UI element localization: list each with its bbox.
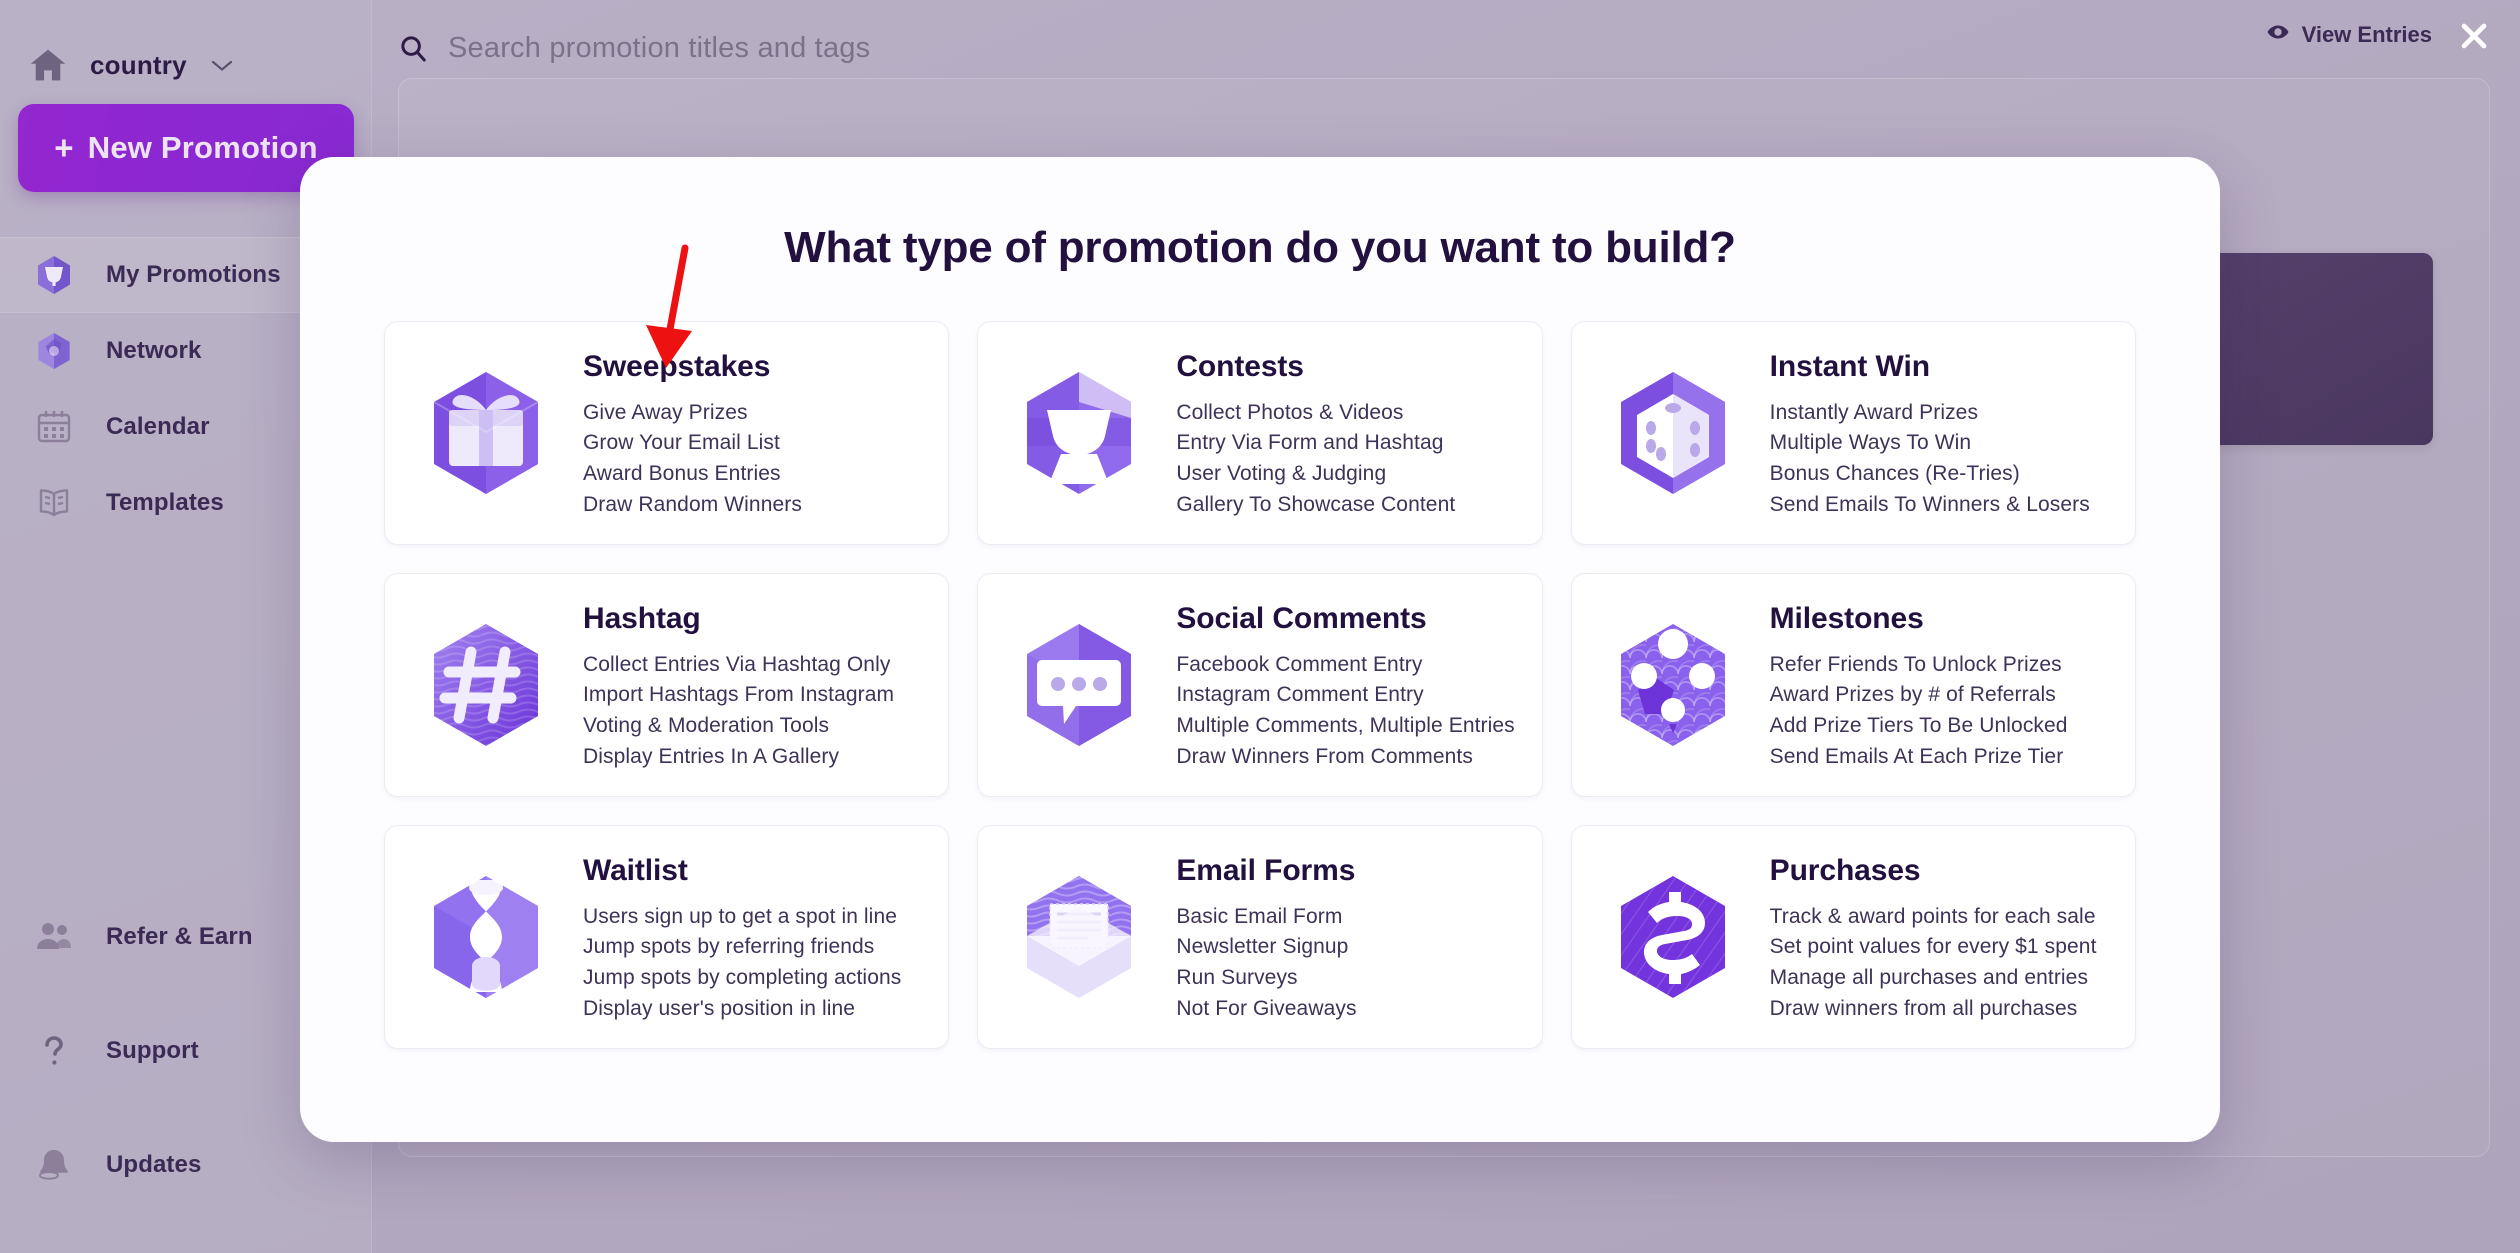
card-feature: Users sign up to get a spot in line (583, 902, 901, 933)
card-feature: Entry Via Form and Hashtag (1176, 428, 1455, 459)
card-feature: Jump spots by referring friends (583, 932, 901, 963)
card-body: Hashtag Collect Entries Via Hashtag Only… (583, 598, 894, 773)
card-feature: Draw Winners From Comments (1176, 742, 1514, 773)
card-feature: Refer Friends To Unlock Prizes (1770, 650, 2068, 681)
card-title: Social Comments (1176, 602, 1514, 636)
promotion-card-email-forms[interactable]: Email Forms Basic Email Form Newsletter … (977, 825, 1542, 1049)
book-icon (32, 481, 76, 525)
card-feature: Newsletter Signup (1176, 932, 1356, 963)
sidebar-item-label: Templates (106, 489, 224, 517)
question-mark-icon (32, 1029, 76, 1073)
card-feature: Not For Giveaways (1176, 994, 1356, 1025)
card-feature: Display user's position in line (583, 994, 901, 1025)
sidebar-item-label: Calendar (106, 413, 210, 441)
card-title: Waitlist (583, 854, 901, 888)
card-feature: Multiple Ways To Win (1770, 428, 2090, 459)
card-feature: Collect Entries Via Hashtag Only (583, 650, 894, 681)
sidebar-item-label: Support (106, 1037, 199, 1065)
card-feature: Facebook Comment Entry (1176, 650, 1514, 681)
sidebar-item-label: Network (106, 337, 201, 365)
users-icon (32, 915, 76, 959)
card-feature: Set point values for every $1 spent (1770, 932, 2097, 963)
sidebar-item-label: Refer & Earn (106, 923, 253, 951)
promotion-card-contests[interactable]: Contests Collect Photos & Videos Entry V… (977, 321, 1542, 545)
card-feature: Send Emails At Each Prize Tier (1770, 742, 2068, 773)
card-feature: Track & award points for each sale (1770, 902, 2097, 933)
bell-icon (32, 1143, 76, 1187)
promotion-card-milestones[interactable]: Milestones Refer Friends To Unlock Prize… (1571, 573, 2136, 797)
speech-bubble-icon (1004, 610, 1154, 760)
card-feature: Display Entries In A Gallery (583, 742, 894, 773)
card-feature: Send Emails To Winners & Losers (1770, 490, 2090, 521)
trophy-icon (32, 253, 76, 297)
card-title: Purchases (1770, 854, 2097, 888)
promotion-card-sweepstakes[interactable]: Sweepstakes Give Away Prizes Grow Your E… (384, 321, 949, 545)
dice-icon (1598, 358, 1748, 508)
dollar-sign-icon (1598, 862, 1748, 1012)
card-body: Waitlist Users sign up to get a spot in … (583, 850, 901, 1025)
promotion-type-modal: What type of promotion do you want to bu… (300, 157, 2220, 1142)
workspace-selector[interactable]: country (0, 0, 371, 100)
card-feature: Draw Random Winners (583, 490, 802, 521)
card-body: Contests Collect Photos & Videos Entry V… (1176, 346, 1455, 521)
card-feature: Gallery To Showcase Content (1176, 490, 1455, 521)
trophy-icon (1004, 358, 1154, 508)
card-feature: User Voting & Judging (1176, 459, 1455, 490)
chevron-down-icon (209, 57, 235, 73)
card-body: Purchases Track & award points for each … (1770, 850, 2097, 1025)
card-title: Milestones (1770, 602, 2068, 636)
search-icon (398, 33, 428, 63)
card-body: Instant Win Instantly Award Prizes Multi… (1770, 346, 2090, 521)
network-icon (32, 329, 76, 373)
card-feature: Instantly Award Prizes (1770, 398, 2090, 429)
card-feature: Give Away Prizes (583, 398, 802, 429)
card-feature: Import Hashtags From Instagram (583, 680, 894, 711)
promotion-card-instant-win[interactable]: Instant Win Instantly Award Prizes Multi… (1571, 321, 2136, 545)
sidebar-item-label: Updates (106, 1151, 201, 1179)
card-body: Sweepstakes Give Away Prizes Grow Your E… (583, 346, 802, 521)
sidebar-item-gdpr-setup[interactable]: GDPR Setup (0, 1222, 372, 1253)
card-feature: Instagram Comment Entry (1176, 680, 1514, 711)
card-body: Social Comments Facebook Comment Entry I… (1176, 598, 1514, 773)
card-body: Email Forms Basic Email Form Newsletter … (1176, 850, 1356, 1025)
card-title: Contests (1176, 350, 1455, 384)
promotion-card-purchases[interactable]: Purchases Track & award points for each … (1571, 825, 2136, 1049)
calendar-icon (32, 405, 76, 449)
hourglass-icon (411, 862, 561, 1012)
gift-box-icon (411, 358, 561, 508)
card-title: Instant Win (1770, 350, 2090, 384)
card-feature: Add Prize Tiers To Be Unlocked (1770, 711, 2068, 742)
card-body: Milestones Refer Friends To Unlock Prize… (1770, 598, 2068, 773)
promotion-card-waitlist[interactable]: Waitlist Users sign up to get a spot in … (384, 825, 949, 1049)
milestone-nodes-icon (1598, 610, 1748, 760)
card-feature: Jump spots by completing actions (583, 963, 901, 994)
home-icon (28, 47, 68, 83)
card-feature: Bonus Chances (Re-Tries) (1770, 459, 2090, 490)
card-feature: Multiple Comments, Multiple Entries (1176, 711, 1514, 742)
promotion-card-hashtag[interactable]: Hashtag Collect Entries Via Hashtag Only… (384, 573, 949, 797)
view-entries-button[interactable]: View Entries (2266, 20, 2432, 50)
promotion-card-social-comments[interactable]: Social Comments Facebook Comment Entry I… (977, 573, 1542, 797)
card-feature: Award Bonus Entries (583, 459, 802, 490)
hashtag-icon (411, 610, 561, 760)
card-feature: Collect Photos & Videos (1176, 398, 1455, 429)
search-placeholder-text: Search promotion titles and tags (448, 32, 870, 65)
new-promotion-label: New Promotion (88, 130, 318, 166)
workspace-name: country (90, 50, 187, 81)
card-title: Hashtag (583, 602, 894, 636)
card-feature: Award Prizes by # of Referrals (1770, 680, 2068, 711)
background-promotion-thumbnail (2193, 253, 2433, 445)
plus-icon: + (54, 129, 73, 167)
search-input[interactable]: Search promotion titles and tags (398, 22, 870, 74)
envelope-icon (1004, 862, 1154, 1012)
promotion-type-grid: Sweepstakes Give Away Prizes Grow Your E… (384, 321, 2136, 1049)
eye-icon (2266, 20, 2290, 50)
card-feature: Grow Your Email List (583, 428, 802, 459)
card-title: Email Forms (1176, 854, 1356, 888)
sidebar-item-label: My Promotions (106, 261, 281, 289)
card-feature: Manage all purchases and entries (1770, 963, 2097, 994)
card-feature: Basic Email Form (1176, 902, 1356, 933)
view-entries-label: View Entries (2302, 22, 2432, 48)
card-feature: Draw winners from all purchases (1770, 994, 2097, 1025)
card-title: Sweepstakes (583, 350, 802, 384)
page-title: What type of promotion do you want to bu… (300, 223, 2220, 273)
card-feature: Voting & Moderation Tools (583, 711, 894, 742)
card-feature: Run Surveys (1176, 963, 1356, 994)
close-icon[interactable] (2454, 16, 2494, 56)
